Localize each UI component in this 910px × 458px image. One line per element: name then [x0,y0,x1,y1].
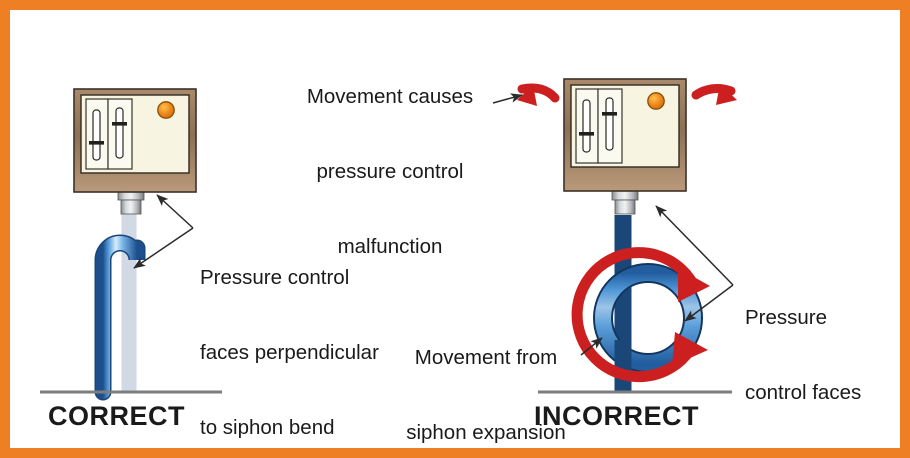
siphon-pigtail-bend [103,210,137,392]
curved-rotation-arrow-left-icon [517,85,555,106]
indicator-lamp-icon [648,93,664,109]
annotation-top-center-line-1: Movement causes [287,84,493,109]
annotation-left-label-line-3: to siphon bend [200,415,379,440]
annotation-right-label-line-2: control faces [745,380,861,405]
diagram-canvas: Movement causes pressure control malfunc… [10,10,900,448]
gauge-fitting-nut [118,191,144,214]
leader-top-center [493,95,522,103]
annotation-bottom-center-line-1: Movement from [396,345,576,370]
annotation-left-label: Pressure control faces perpendicular to … [200,215,379,448]
curved-rotation-arrow-right-icon [696,84,737,105]
gauge-fitting-nut [612,191,638,214]
figure-orange-border: Movement causes pressure control malfunc… [0,0,910,458]
pressure-gauge-correct [74,89,196,214]
caption-correct: CORRECT [48,400,185,433]
caption-incorrect: INCORRECT [534,400,699,433]
annotation-right-label-line-1: Pressure [745,305,861,330]
annotation-top-center-line-2: pressure control [287,159,493,184]
annotation-right-label: Pressure control faces parallel to sipho… [745,255,861,448]
annotation-left-label-line-1: Pressure control [200,265,379,290]
annotation-left-label-line-2: faces perpendicular [200,340,379,365]
panel-correct [40,89,222,392]
pressure-gauge-incorrect [564,79,686,214]
indicator-lamp-icon [158,102,174,118]
